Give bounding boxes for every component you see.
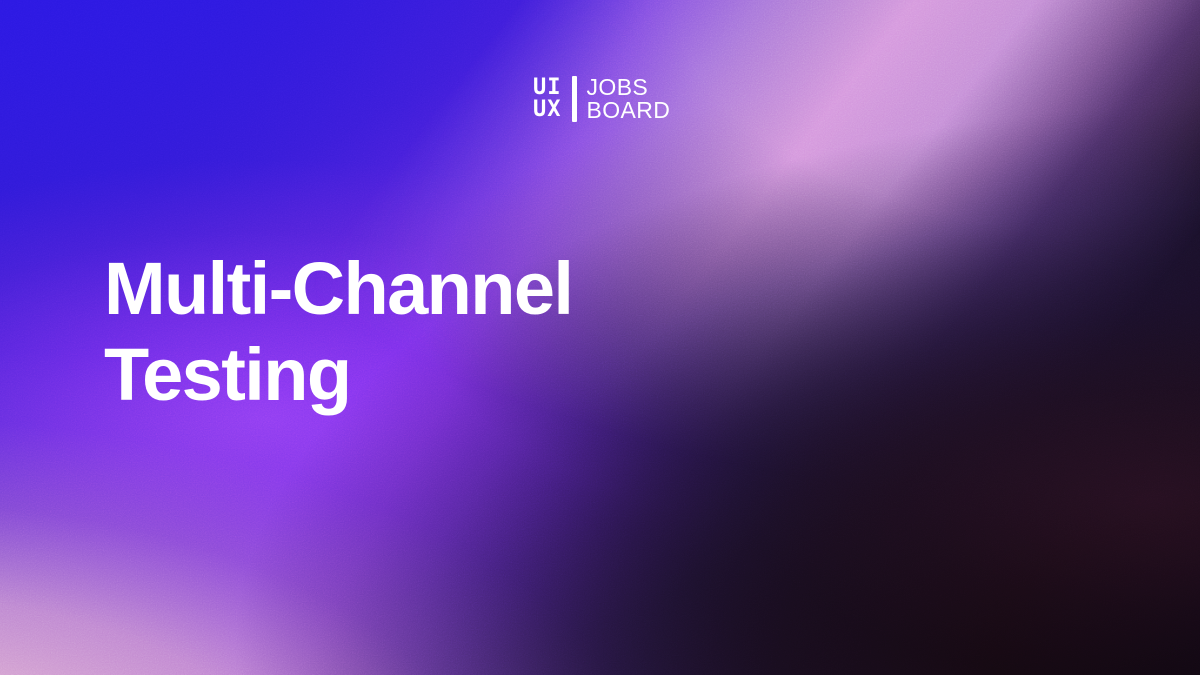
page-title: Multi-Channel Testing — [104, 246, 572, 418]
logo-line-ui: UI — [533, 77, 562, 99]
page-title-line-2: Testing — [104, 332, 572, 418]
logo-line-ux: UX — [533, 99, 562, 121]
logo-jobsboard-mark: JOBS BOARD — [587, 76, 671, 122]
logo-line-board: BOARD — [587, 99, 671, 122]
hero-banner: UI UX JOBS BOARD Multi-Channel Testing — [0, 0, 1200, 675]
logo-uiux-mark: UI UX — [533, 77, 562, 121]
page-title-line-1: Multi-Channel — [104, 246, 572, 332]
brand-logo[interactable]: UI UX JOBS BOARD — [533, 76, 670, 122]
logo-line-jobs: JOBS — [587, 76, 671, 99]
logo-divider-icon — [572, 76, 577, 122]
